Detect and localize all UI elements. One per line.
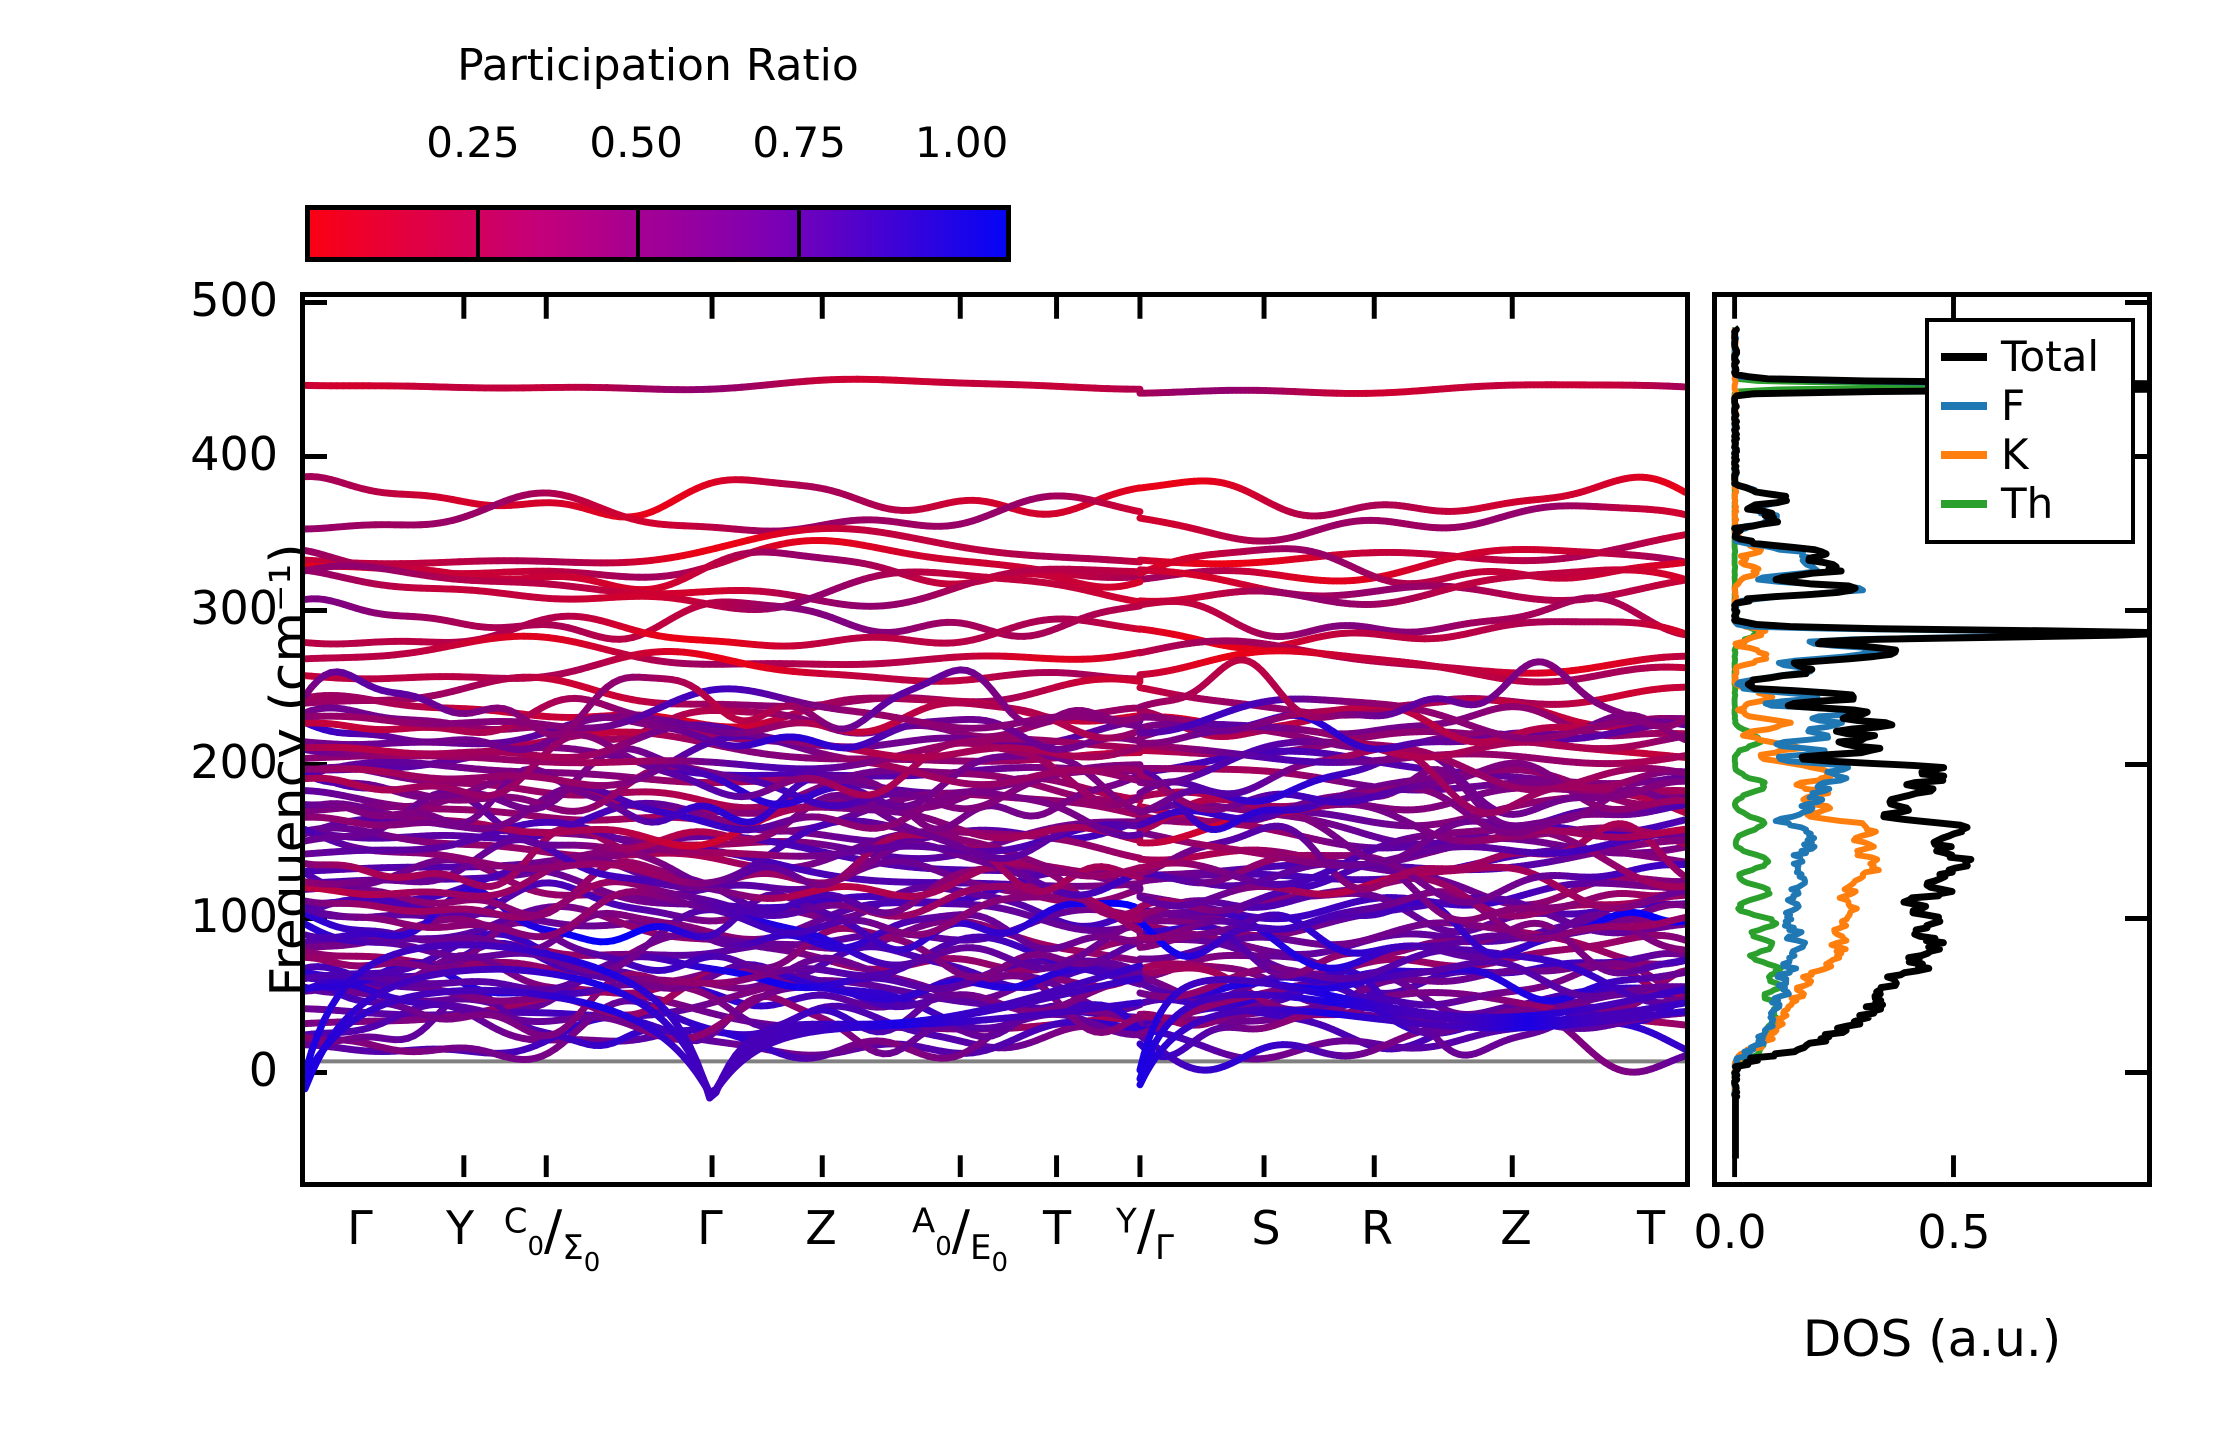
kpath-num-sub: 0 — [935, 1232, 952, 1262]
kpath-label-c0-sigma0: C0/Σ0 — [504, 1205, 601, 1264]
kpath-label-z-1: Z — [805, 1205, 837, 1251]
phonon-band-structure-plot — [300, 292, 1690, 1187]
kpath-label-y-gamma: Y/Γ — [1116, 1205, 1174, 1264]
colorbar-tick-mark — [797, 210, 801, 257]
kpath-label-t-2: T — [1637, 1205, 1665, 1251]
legend-swatch-th — [1941, 500, 1987, 508]
kpath-den: E — [970, 1228, 991, 1268]
colorbar-title: Participation Ratio — [305, 40, 1011, 91]
colorbar-tick-label: 0.50 — [589, 118, 683, 167]
legend-item-total: Total — [1941, 332, 2119, 381]
kpath-num-sub: 0 — [527, 1232, 544, 1262]
kpath-den-sub: 0 — [584, 1248, 601, 1278]
kpath-label-s: S — [1251, 1205, 1280, 1251]
legend-swatch-k — [1941, 451, 1987, 459]
kpath-label-y: Y — [446, 1205, 474, 1251]
y-tick-label: 300 — [118, 581, 278, 635]
dos-legend: Total F K Th — [1925, 318, 2135, 544]
kpath-label-t-1: T — [1043, 1205, 1071, 1251]
kpath-num: Y — [1116, 1202, 1137, 1242]
kpath-den: Σ — [562, 1228, 583, 1268]
kpath-label-gamma-2: Γ — [697, 1205, 723, 1251]
colorbar-tick-mark — [476, 210, 480, 257]
dos-x-tick-label: 0.0 — [1693, 1205, 1766, 1259]
colorbar-tick-labels: 0.25 0.50 0.75 1.00 — [305, 118, 1011, 168]
y-tick-label: 100 — [118, 889, 278, 943]
kpath-den-sub: 0 — [991, 1248, 1008, 1278]
dos-x-axis-label: DOS (a.u.) — [1712, 1310, 2152, 1368]
kpath-den: Γ — [1155, 1228, 1174, 1268]
kpath-label-a0-e0: A0/E0 — [912, 1205, 1008, 1264]
phonon-band-dos-figure: Participation Ratio 0.25 0.50 0.75 1.00 … — [0, 0, 2222, 1455]
colorbar-tick-label: 1.00 — [915, 118, 1009, 167]
legend-label: Total — [2001, 336, 2099, 378]
y-tick-label: 500 — [118, 273, 278, 327]
legend-item-th: Th — [1941, 479, 2119, 528]
kpath-label-z-2: Z — [1500, 1205, 1532, 1251]
legend-item-k: K — [1941, 430, 2119, 479]
legend-swatch-f — [1941, 402, 1987, 410]
legend-item-f: F — [1941, 381, 2119, 430]
legend-label: Th — [2001, 483, 2053, 525]
y-tick-label: 400 — [118, 427, 278, 481]
legend-label: F — [2001, 385, 2025, 427]
legend-label: K — [2001, 434, 2029, 476]
kpath-label-gamma-1: Γ — [347, 1205, 373, 1251]
colorbar-tick-mark — [636, 210, 640, 257]
y-tick-label: 200 — [118, 735, 278, 789]
participation-ratio-colorbar — [305, 205, 1011, 262]
dos-x-tick-label: 0.5 — [1917, 1205, 1990, 1259]
colorbar-tick-label: 0.75 — [752, 118, 846, 167]
colorbar-tick-label: 0.25 — [426, 118, 520, 167]
band-curves — [305, 297, 1685, 1182]
y-tick-label: 0 — [118, 1043, 278, 1097]
kpath-num: C — [504, 1202, 528, 1242]
legend-swatch-total — [1941, 353, 1987, 361]
kpath-label-r: R — [1361, 1205, 1393, 1251]
kpath-num: A — [912, 1202, 935, 1242]
